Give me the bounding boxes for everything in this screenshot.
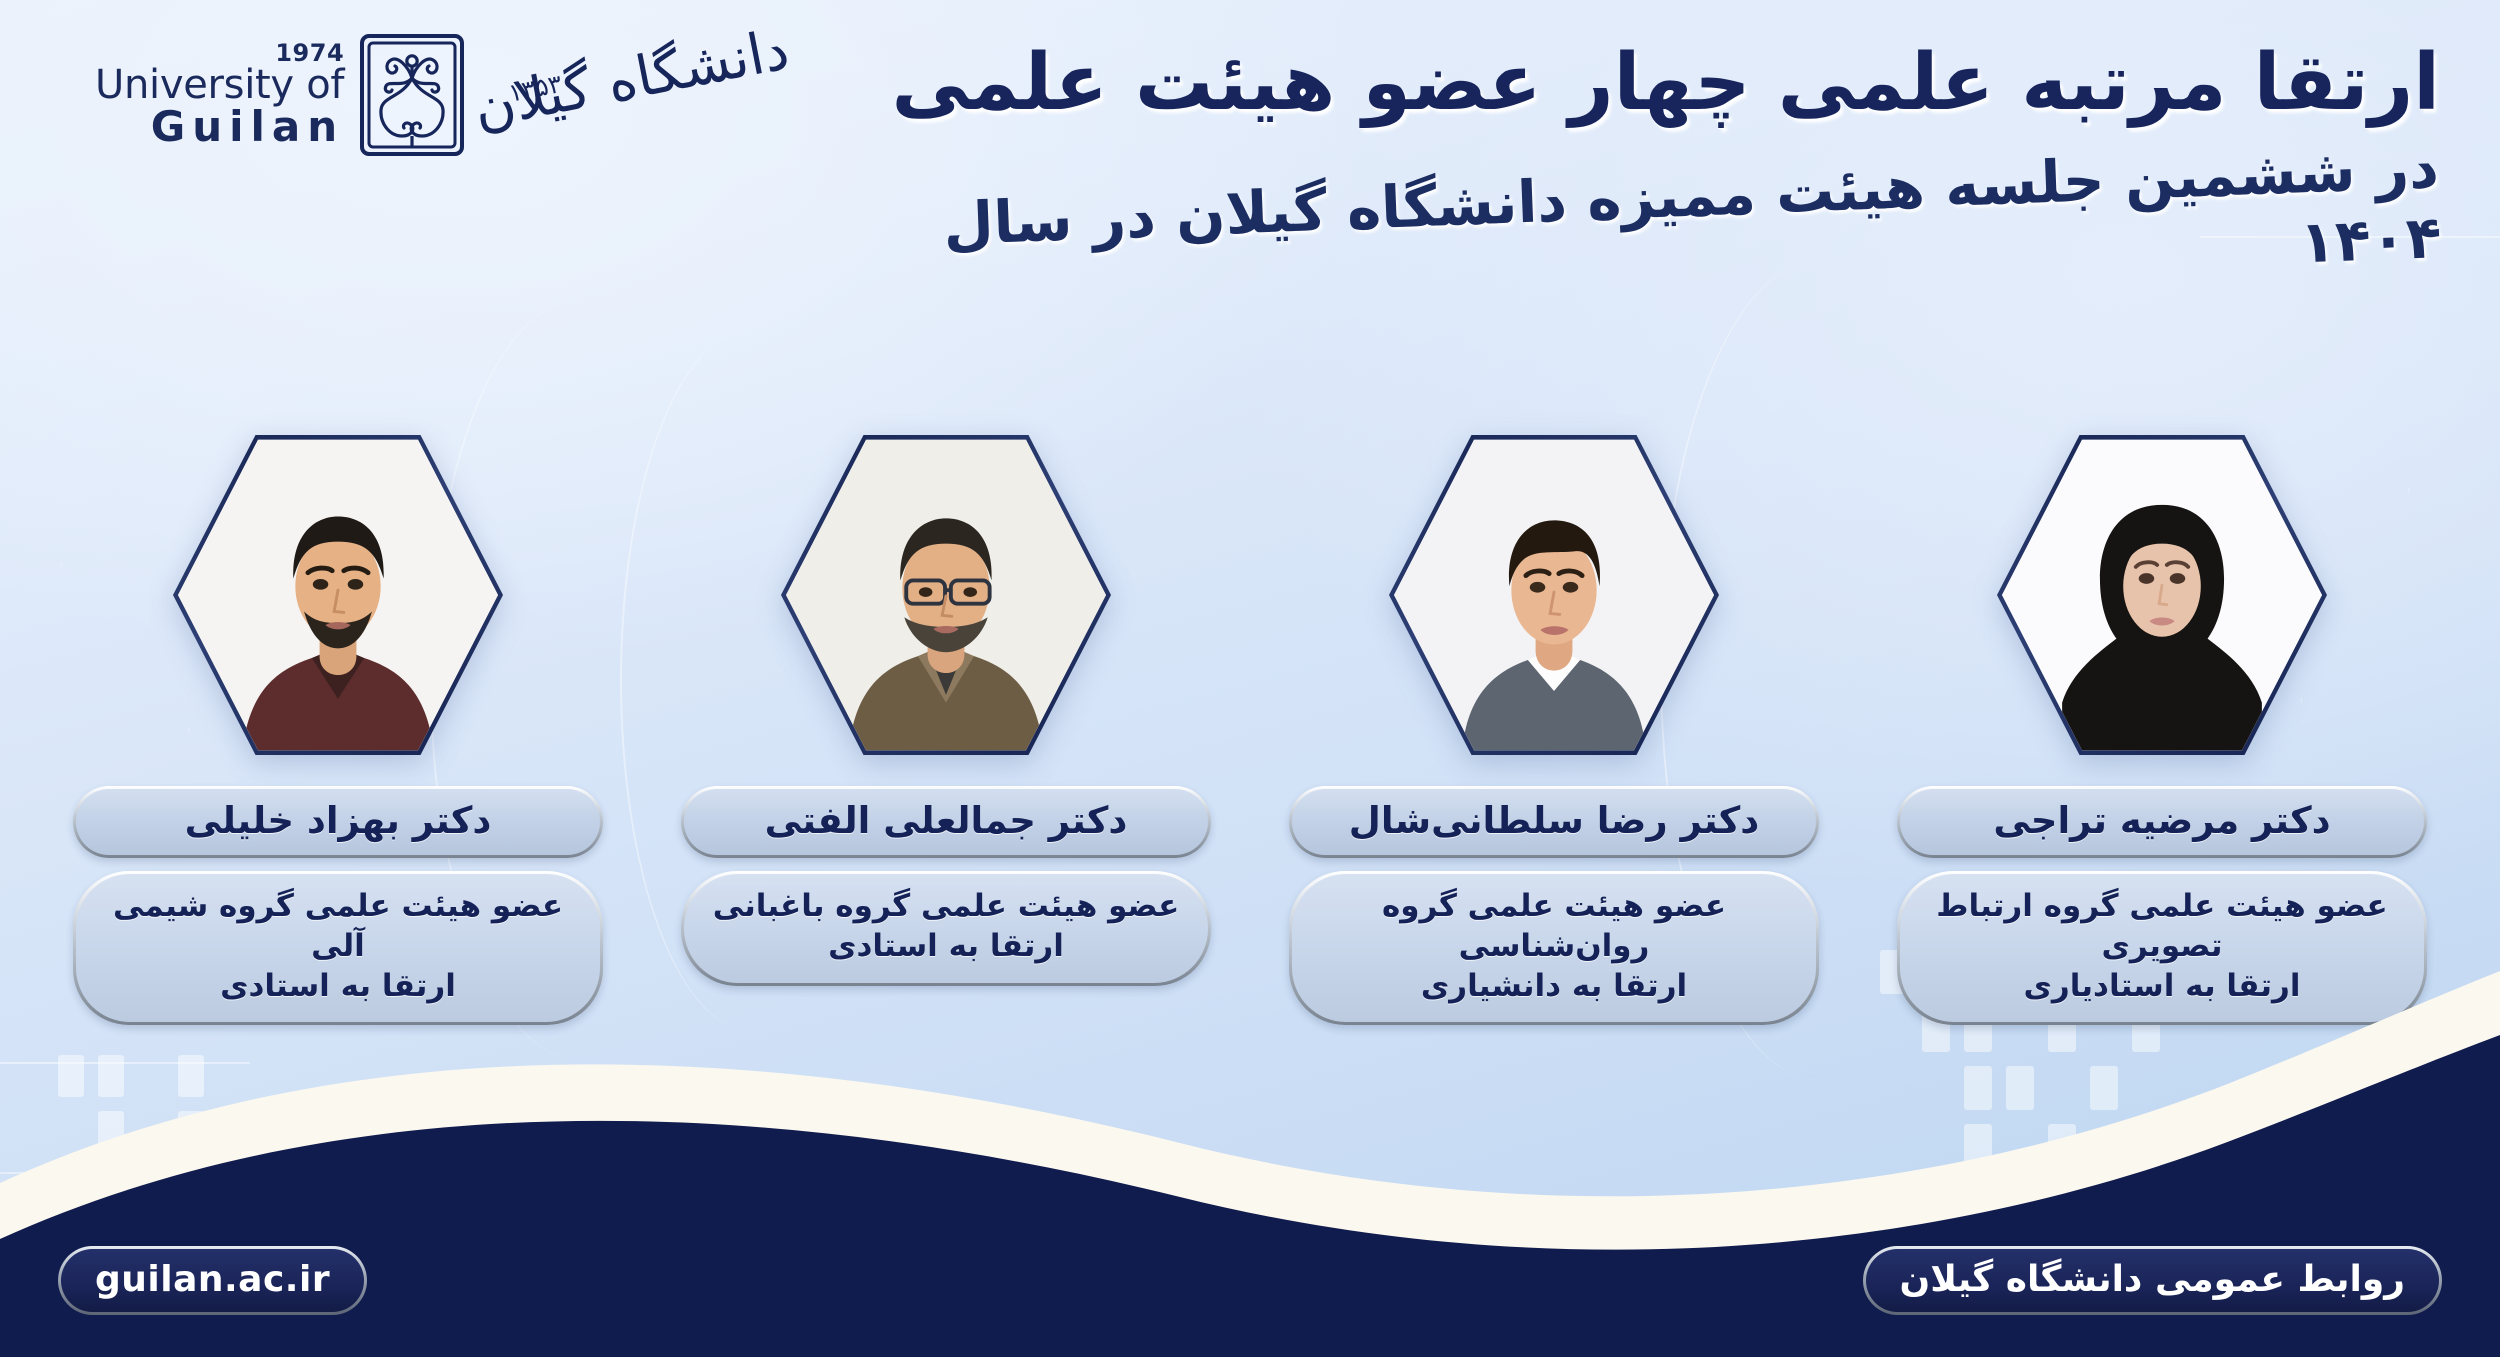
avatar	[1997, 430, 2327, 760]
faculty-name: دکتر بهزاد خلیلی	[76, 789, 600, 855]
logo-line-guilan: Guilan	[95, 106, 344, 149]
avatar	[1389, 430, 1719, 760]
portrait-marzieh-taraji	[2002, 435, 2322, 755]
faculty-name-chip: دکتر جمالعلی الفتی	[681, 786, 1211, 858]
logo-persian-text: ۱۳۵۳ دانشگاه گیلان	[480, 53, 799, 138]
portrait-jamalali-olfati	[786, 435, 1106, 755]
guilan-emblem-icon	[358, 32, 466, 158]
faculty-name: دکتر جمالعلی الفتی	[684, 789, 1208, 855]
logo-english-text: 1974 University of Guilan	[95, 41, 344, 149]
page-subtitle: در ششمین جلسه هیئت ممیزه دانشگاه گیلان د…	[858, 133, 2442, 333]
logo-line-university-of: University of	[95, 65, 344, 106]
avatar	[173, 430, 503, 760]
portrait-behzad-khalili	[178, 435, 498, 755]
faculty-name: دکتر مرضیه تراجی	[1900, 789, 2424, 855]
public-relations-chip: روابط عمومی دانشگاه گیلان	[1863, 1246, 2442, 1315]
poster-canvas: 1974 University of Guilan ۱۳۵۳ دانشگاه گ…	[0, 0, 2500, 1357]
faculty-name-chip: دکتر بهزاد خلیلی	[73, 786, 603, 858]
public-relations-label: روابط عمومی دانشگاه گیلان	[1866, 1249, 2439, 1312]
faculty-name: دکتر رضا سلطانی‌شال	[1292, 789, 1816, 855]
university-logo: 1974 University of Guilan ۱۳۵۳ دانشگاه گ…	[95, 32, 799, 158]
faculty-name-chip: دکتر مرضیه تراجی	[1897, 786, 2427, 858]
website-chip[interactable]: guilan.ac.ir	[58, 1246, 367, 1315]
faculty-name-chip: دکتر رضا سلطانی‌شال	[1289, 786, 1819, 858]
logo-university-name-fa: دانشگاه گیلان	[469, 22, 793, 138]
page-title: ارتقا مرتبه علمی چهار عضو هیئت علمی	[860, 40, 2440, 127]
portrait-reza-soltanishal	[1394, 435, 1714, 755]
header-titles: ارتقا مرتبه علمی چهار عضو هیئت علمی در ش…	[860, 40, 2440, 273]
website-url[interactable]: guilan.ac.ir	[61, 1249, 364, 1312]
avatar	[781, 430, 1111, 760]
